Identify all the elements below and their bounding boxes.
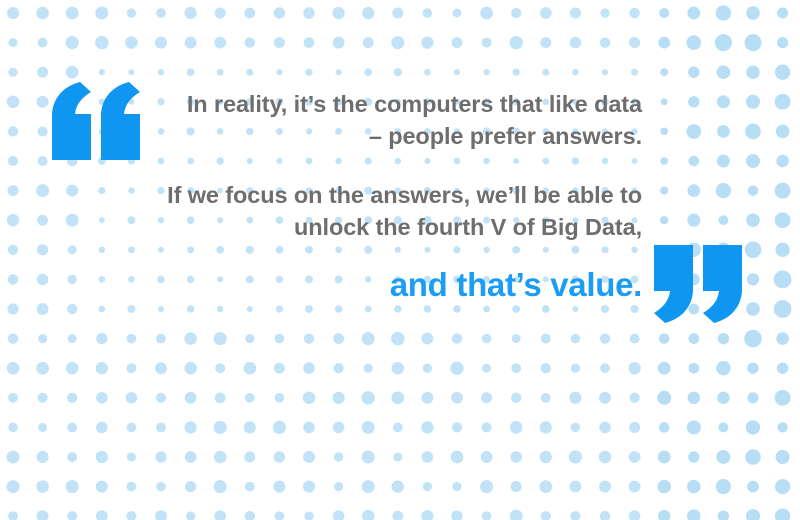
quote-card: In reality, it’s the computers that like… [0, 0, 800, 520]
quote-content-layer: In reality, it’s the computers that like… [0, 0, 800, 520]
quote-highlight-line: and that’s value. [120, 265, 642, 305]
highlight-line-wrap: and that’s value. [120, 265, 642, 305]
quote-line-4: unlock the fourth V of Big Data, [120, 211, 642, 243]
paragraph-spacer [120, 152, 642, 179]
close-quote-icon [652, 245, 744, 328]
quote-line-3: If we focus on the answers, we’ll be abl… [120, 179, 642, 211]
quote-line-1: In reality, it’s the computers that like… [120, 88, 642, 120]
quote-line-2: – people prefer answers. [120, 120, 642, 152]
quote-text-block: In reality, it’s the computers that like… [120, 88, 642, 305]
